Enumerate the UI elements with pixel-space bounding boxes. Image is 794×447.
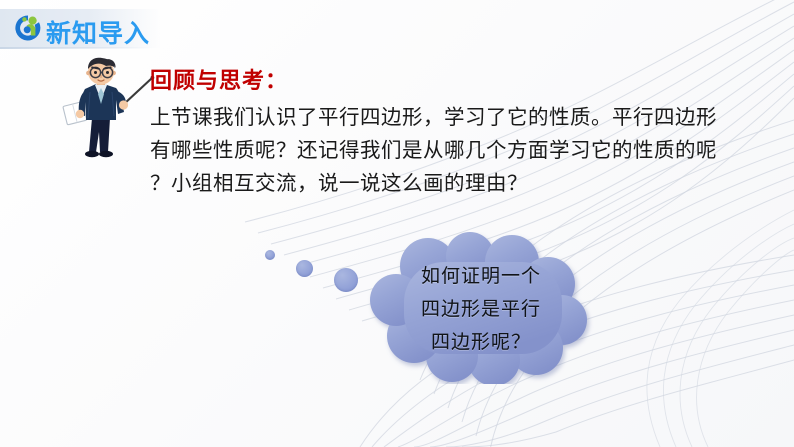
header-title: 新知导入 [46, 14, 150, 50]
cloud-text-line: 如何证明一个 [386, 260, 576, 293]
cartoon-teacher-figure [52, 56, 160, 164]
circular-person-logo-icon [13, 13, 43, 43]
thought-dot-small [265, 250, 275, 260]
paragraph-line: 上节课我们认识了平行四边形，学习了它的性质。平行四边形 [150, 101, 710, 134]
body-paragraph: 上节课我们认识了平行四边形，学习了它的性质。平行四边形 有哪些性质呢？还记得我们… [150, 101, 710, 200]
cloud-text-line: 四边形呢？ [386, 326, 576, 359]
thought-cloud-text: 如何证明一个 四边形是平行 四边形呢？ [386, 250, 576, 368]
paragraph-line: 有哪些性质呢？还记得我们是从哪几个方面学习它的性质的呢 [150, 134, 710, 167]
slide-canvas: 新知导入 [0, 0, 794, 447]
thought-dot-large [334, 268, 358, 292]
page-heading: 回顾与思考： [150, 63, 288, 95]
paragraph-line: ？小组相互交流，说一说这么画的理由？ [150, 167, 710, 200]
cloud-text-line: 四边形是平行 [386, 293, 576, 326]
thought-dot-medium [296, 260, 313, 277]
